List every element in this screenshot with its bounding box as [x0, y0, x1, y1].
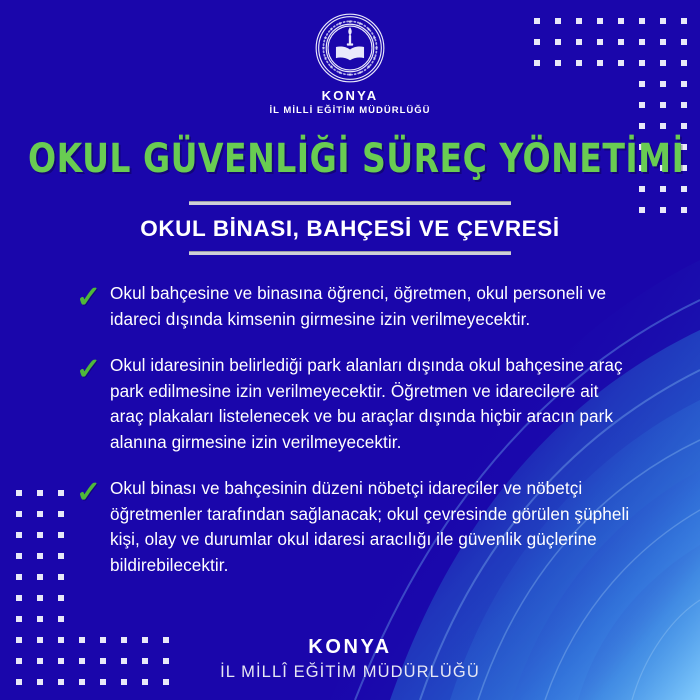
footer-city: KONYA [0, 636, 700, 659]
bullet-item: ✓Okul idaresinin belirlediği park alanla… [76, 353, 632, 455]
check-icon: ✓ [76, 281, 110, 311]
rule-bottom [189, 251, 511, 255]
section-subtitle: OKUL BİNASI, BAHÇESİ VE ÇEVRESİ [0, 205, 700, 251]
dot [631, 115, 652, 136]
footer-department: İL MİLLÎ EĞİTİM MÜDÜRLÜĞÜ [0, 663, 700, 682]
dot [134, 608, 155, 629]
dot [113, 608, 134, 629]
dot [50, 503, 71, 524]
page-title: OKUL GÜVENLİĞİ SÜREÇ YÖNETİMİ [28, 136, 672, 182]
dot [29, 545, 50, 566]
dot [652, 115, 673, 136]
bullet-text: Okul binası ve bahçesinin düzeni nöbetçi… [110, 476, 632, 578]
bullet-text: Okul idaresinin belirlediği park alanlar… [110, 353, 632, 455]
bullet-item: ✓Okul binası ve bahçesinin düzeni nöbetç… [76, 476, 632, 578]
poster-canvas: KONYA İL MİLLİ EĞİTİM MÜDÜRLÜĞÜ OKUL GÜV… [0, 0, 700, 700]
dot [8, 503, 29, 524]
dot [8, 566, 29, 587]
dot [8, 608, 29, 629]
dot [526, 115, 547, 136]
bullet-list: ✓Okul bahçesine ve binasına öğrenci, öğr… [76, 281, 632, 599]
dot [568, 115, 589, 136]
dot [8, 545, 29, 566]
bullet-text: Okul bahçesine ve binasına öğrenci, öğre… [110, 281, 632, 332]
dot [155, 608, 176, 629]
dot [50, 566, 71, 587]
footer: KONYA İL MİLLÎ EĞİTİM MÜDÜRLÜĞÜ [0, 636, 700, 682]
dot [29, 566, 50, 587]
dot [589, 115, 610, 136]
header-org-name: KONYA [0, 88, 700, 103]
header: KONYA İL MİLLİ EĞİTİM MÜDÜRLÜĞÜ [0, 12, 700, 116]
dot [50, 608, 71, 629]
dot [29, 524, 50, 545]
dot [8, 524, 29, 545]
emblem-wrap [0, 12, 700, 84]
bullet-item: ✓Okul bahçesine ve binasına öğrenci, öğr… [76, 281, 632, 332]
dot [29, 608, 50, 629]
dot [29, 587, 50, 608]
dot [92, 608, 113, 629]
check-icon: ✓ [76, 476, 110, 506]
dot [29, 482, 50, 503]
dot [71, 608, 92, 629]
subtitle-block: OKUL BİNASI, BAHÇESİ VE ÇEVRESİ [0, 201, 700, 255]
check-icon: ✓ [76, 353, 110, 383]
dot [29, 503, 50, 524]
dot [673, 115, 694, 136]
meb-emblem [314, 12, 386, 84]
header-org-sub: İL MİLLİ EĞİTİM MÜDÜRLÜĞÜ [0, 105, 700, 116]
dot [50, 587, 71, 608]
dot [50, 524, 71, 545]
dot [8, 482, 29, 503]
dot [50, 545, 71, 566]
dot [547, 115, 568, 136]
dot [610, 115, 631, 136]
dot [50, 482, 71, 503]
dot [8, 587, 29, 608]
